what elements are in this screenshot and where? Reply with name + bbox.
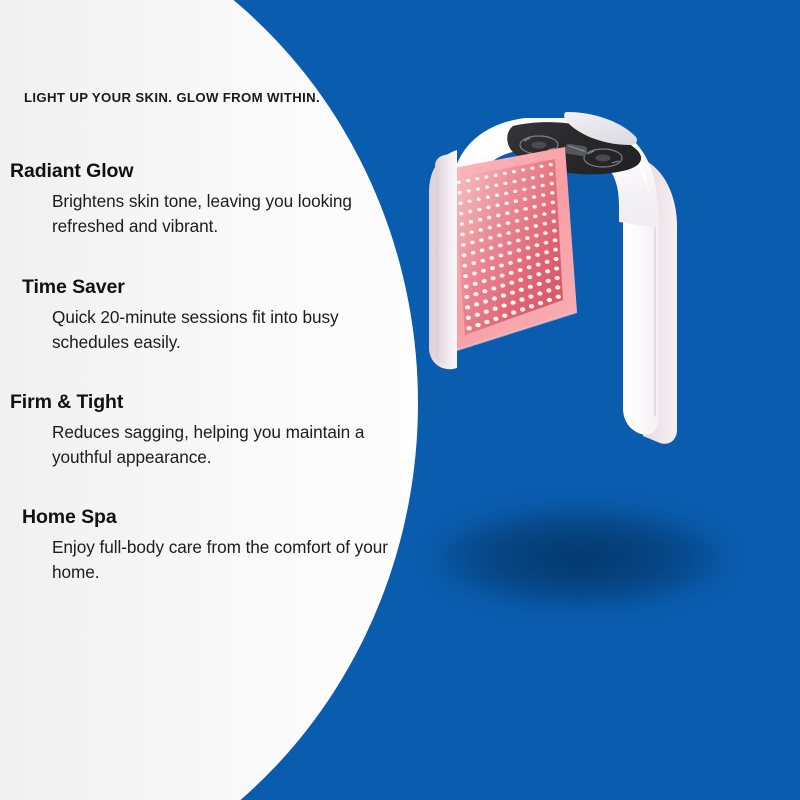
- feature-title: Firm & Tight: [10, 391, 420, 414]
- feature-body: Reduces sagging, helping you maintain a …: [52, 420, 420, 471]
- feature-block-home-spa: Home Spa Enjoy full-body care from the c…: [0, 506, 420, 586]
- feature-body: Enjoy full-body care from the comfort of…: [52, 535, 420, 586]
- headline: LIGHT UP YOUR SKIN. GLOW FROM WITHIN.: [24, 90, 320, 105]
- feature-block-time-saver: Time Saver Quick 20-minute sessions fit …: [0, 276, 420, 356]
- product-marketing-image: LIGHT UP YOUR SKIN. GLOW FROM WITHIN. Ra…: [0, 0, 800, 800]
- feature-block-radiant-glow: Radiant Glow Brightens skin tone, leavin…: [0, 160, 420, 240]
- product-drop-shadow: [430, 505, 730, 610]
- button-center-left[interactable]: [532, 141, 547, 148]
- feature-title: Time Saver: [22, 276, 420, 299]
- button-center-right[interactable]: [596, 154, 611, 161]
- device-left-front-edge: [435, 152, 457, 364]
- feature-body: Quick 20-minute sessions fit into busy s…: [52, 305, 420, 356]
- feature-title: Home Spa: [22, 506, 420, 529]
- feature-block-firm-tight: Firm & Tight Reduces sagging, helping yo…: [0, 391, 420, 471]
- text-content-column: LIGHT UP YOUR SKIN. GLOW FROM WITHIN. Ra…: [0, 0, 420, 800]
- feature-body: Brightens skin tone, leaving you looking…: [52, 189, 420, 240]
- feature-title: Radiant Glow: [10, 160, 420, 183]
- led-light-therapy-panel-product: [405, 100, 705, 460]
